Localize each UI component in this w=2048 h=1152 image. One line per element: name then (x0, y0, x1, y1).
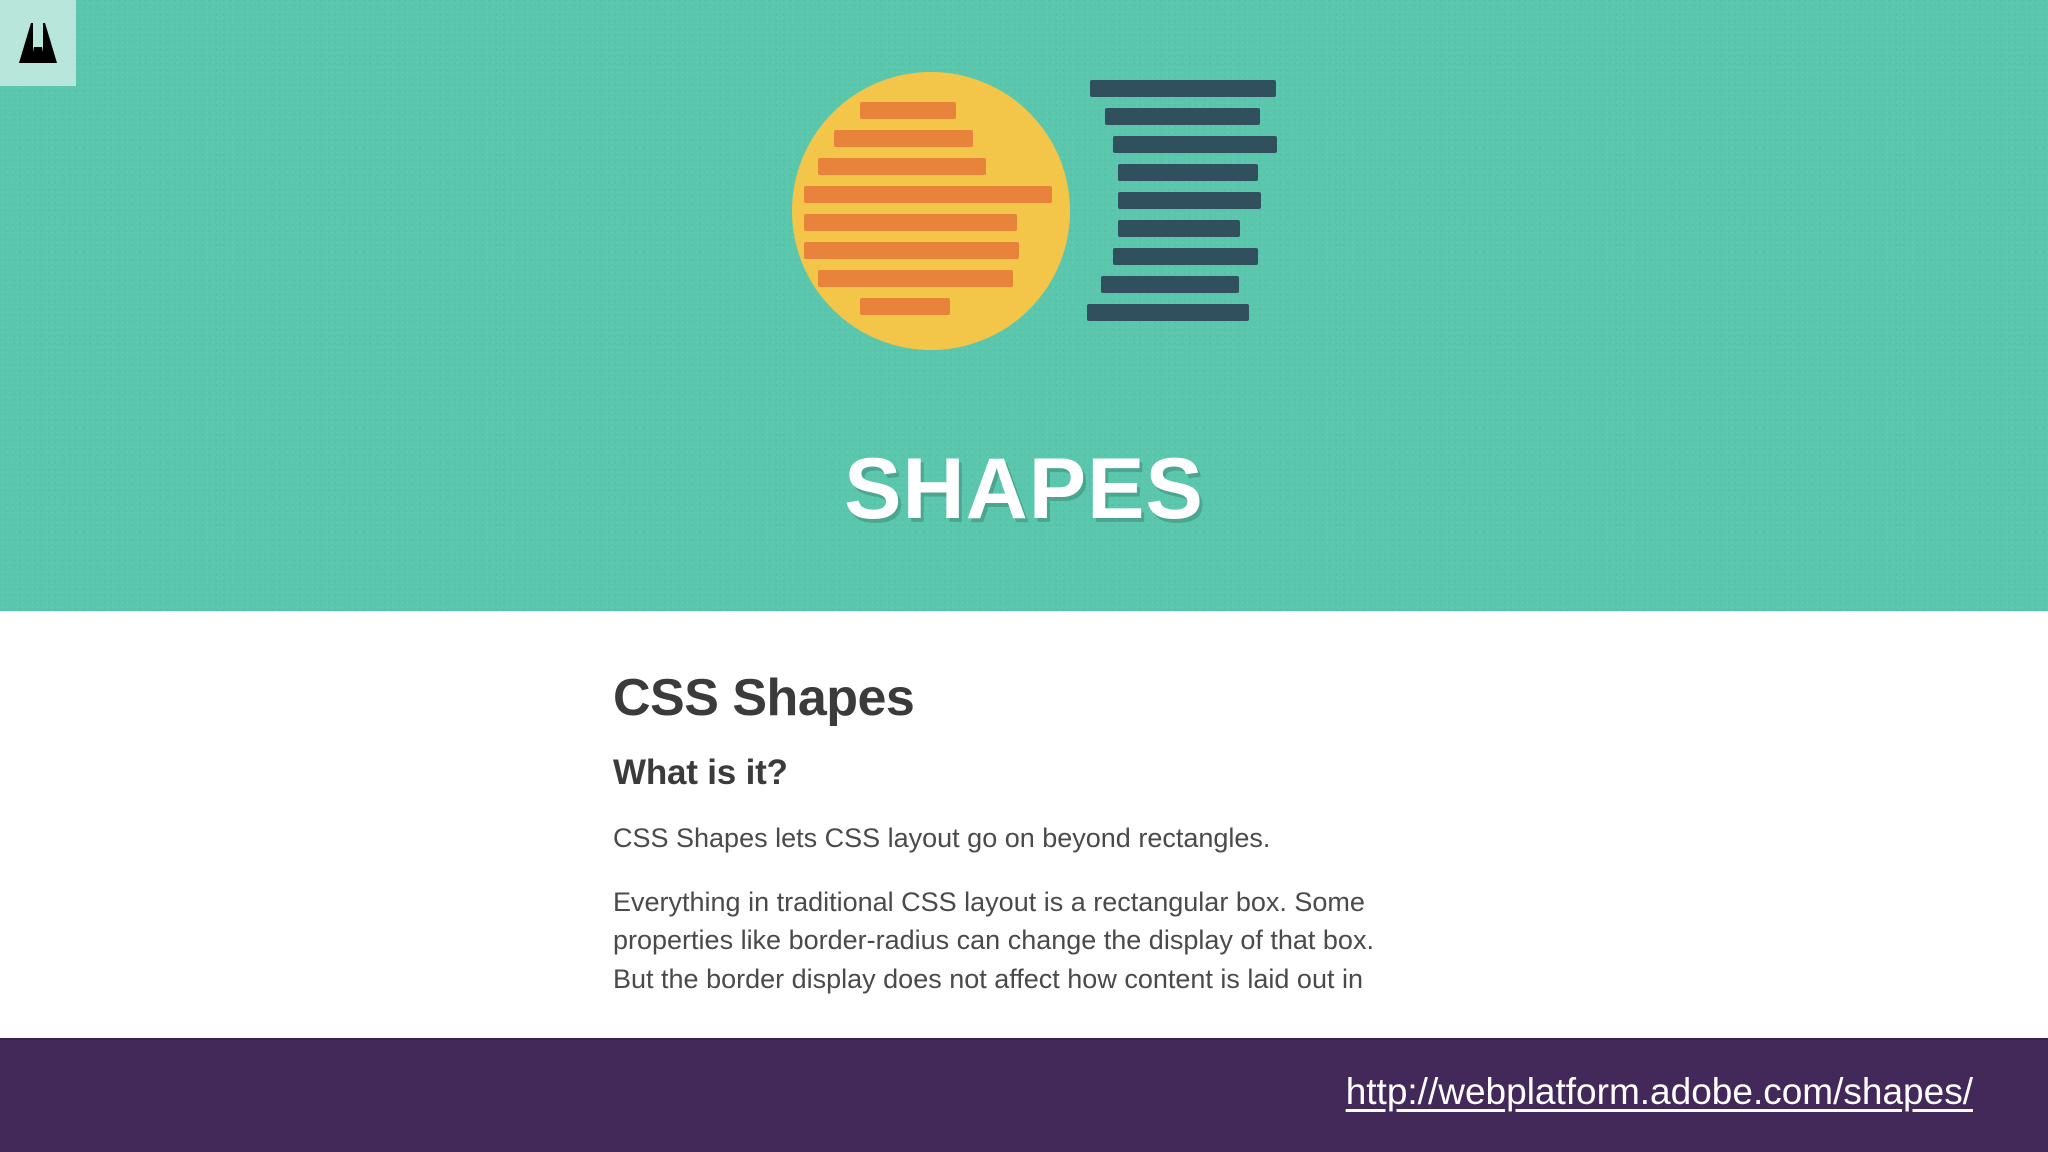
circle-bar-5 (804, 214, 1017, 231)
circle-bar-1 (860, 102, 956, 119)
hero-title: SHAPES (0, 440, 2048, 539)
hero-section: SHAPES (0, 0, 2048, 611)
page-title: CSS Shapes (613, 611, 1443, 726)
stack-bar-6 (1118, 220, 1240, 237)
footer-bar: http://webplatform.adobe.com/shapes/ (0, 1038, 2048, 1152)
circle-bar-8 (860, 298, 950, 315)
slide-page: SHAPES CSS Shapes What is it? CSS Shapes… (0, 0, 2048, 1152)
stack-bar-3 (1113, 136, 1277, 153)
stack-bar-4 (1118, 164, 1258, 181)
stack-bar-2 (1105, 108, 1260, 125)
circle-bar-4 (804, 186, 1052, 203)
stack-bar-1 (1090, 80, 1276, 97)
content-section: CSS Shapes What is it? CSS Shapes lets C… (0, 611, 2048, 1038)
stack-bar-9 (1087, 304, 1249, 321)
stack-bar-8 (1101, 276, 1239, 293)
body-paragraph: Everything in traditional CSS layout is … (613, 857, 1403, 998)
adobe-logo-tile (0, 0, 76, 86)
circle-bar-3 (818, 158, 986, 175)
section-subtitle: What is it? (613, 726, 1443, 793)
intro-paragraph: CSS Shapes lets CSS layout go on beyond … (613, 793, 1403, 857)
circle-bar-2 (834, 130, 973, 147)
stack-bar-5 (1118, 192, 1261, 209)
adobe-logo-icon (15, 21, 61, 65)
stack-bar-7 (1113, 248, 1258, 265)
footer-url-link[interactable]: http://webplatform.adobe.com/shapes/ (1346, 1071, 1973, 1113)
css-shapes-illustration (786, 66, 1256, 356)
circle-bar-7 (818, 270, 1013, 287)
content-column: CSS Shapes What is it? CSS Shapes lets C… (613, 611, 1443, 998)
circle-bar-6 (804, 242, 1019, 259)
